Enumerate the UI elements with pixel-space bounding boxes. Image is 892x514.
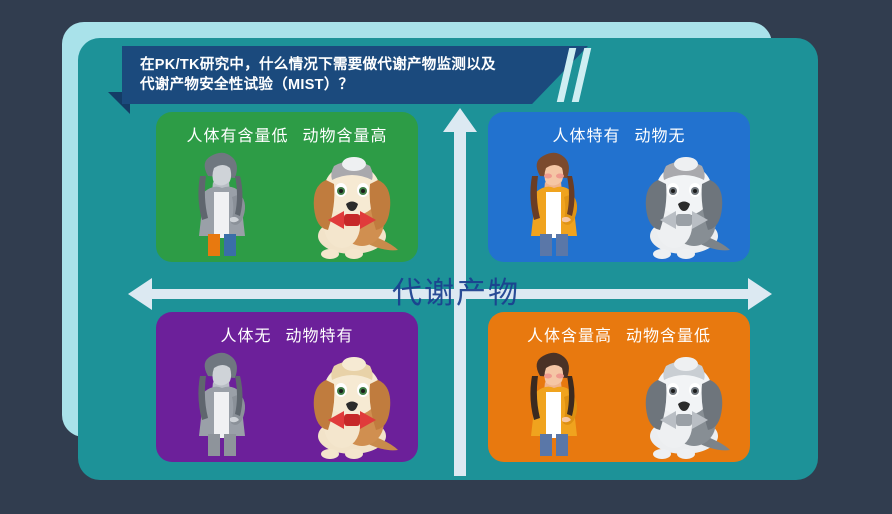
- banner-body: 在PK/TK研究中，什么情况下需要做代谢产物监测以及 代谢产物安全性试验（MIS…: [122, 46, 588, 104]
- human-color-and-dog-grey-illustration: [488, 146, 750, 262]
- dog-figure-greyscale: [646, 157, 730, 259]
- dog-figure-color: [314, 357, 398, 459]
- animal-label: 动物含量高: [303, 128, 388, 145]
- center-axis-label: 代谢产物: [392, 268, 520, 312]
- quadrant-top-left[interactable]: 人体有含量低动物含量高: [156, 112, 418, 262]
- quadrant-top-left-figures: [156, 146, 418, 262]
- banner-title-line-1: 在PK/TK研究中，什么情况下需要做代谢产物监测以及: [140, 55, 574, 75]
- quadrant-bottom-left-labels: 人体无动物特有: [156, 322, 418, 346]
- animal-label: 动物含量低: [626, 328, 711, 345]
- human-label: 人体含量高: [527, 328, 612, 345]
- quadrant-bottom-right-figures: [488, 346, 750, 462]
- banner-title-line-2: 代谢产物安全性试验（MIST）？: [140, 75, 574, 95]
- human-grey-and-dog-color-illustration: [156, 346, 418, 462]
- title-banner: 在PK/TK研究中，什么情况下需要做代谢产物监测以及 代谢产物安全性试验（MIS…: [108, 46, 598, 104]
- quadrant-top-right-figures: [488, 146, 750, 262]
- dog-figure-greyscale: [646, 357, 730, 459]
- human-figure-color: [530, 353, 577, 456]
- quadrant-bottom-left[interactable]: 人体无动物特有: [156, 312, 418, 462]
- human-figure-greyscale: [198, 153, 245, 256]
- quadrant-top-right-labels: 人体特有动物无: [488, 122, 750, 146]
- human-label: 人体无: [220, 328, 271, 345]
- quadrant-bottom-right[interactable]: 人体含量高动物含量低: [488, 312, 750, 462]
- human-figure-color: [530, 153, 577, 256]
- human-color-and-dog-grey-illustration: [488, 346, 750, 462]
- quadrant-bottom-right-labels: 人体含量高动物含量低: [488, 322, 750, 346]
- dog-figure-color: [314, 157, 398, 259]
- quadrant-top-right[interactable]: 人体特有动物无: [488, 112, 750, 262]
- infographic-canvas: 在PK/TK研究中，什么情况下需要做代谢产物监测以及 代谢产物安全性试验（MIS…: [0, 0, 892, 514]
- human-figure-greyscale: [198, 353, 245, 456]
- quadrant-bottom-left-figures: [156, 346, 418, 462]
- human-label: 人体有含量低: [186, 128, 288, 145]
- animal-label: 动物特有: [286, 328, 354, 345]
- quadrant-top-left-labels: 人体有含量低动物含量高: [156, 122, 418, 146]
- human-grey-and-dog-color-illustration: [156, 146, 418, 262]
- animal-label: 动物无: [635, 128, 686, 145]
- human-label: 人体特有: [552, 128, 620, 145]
